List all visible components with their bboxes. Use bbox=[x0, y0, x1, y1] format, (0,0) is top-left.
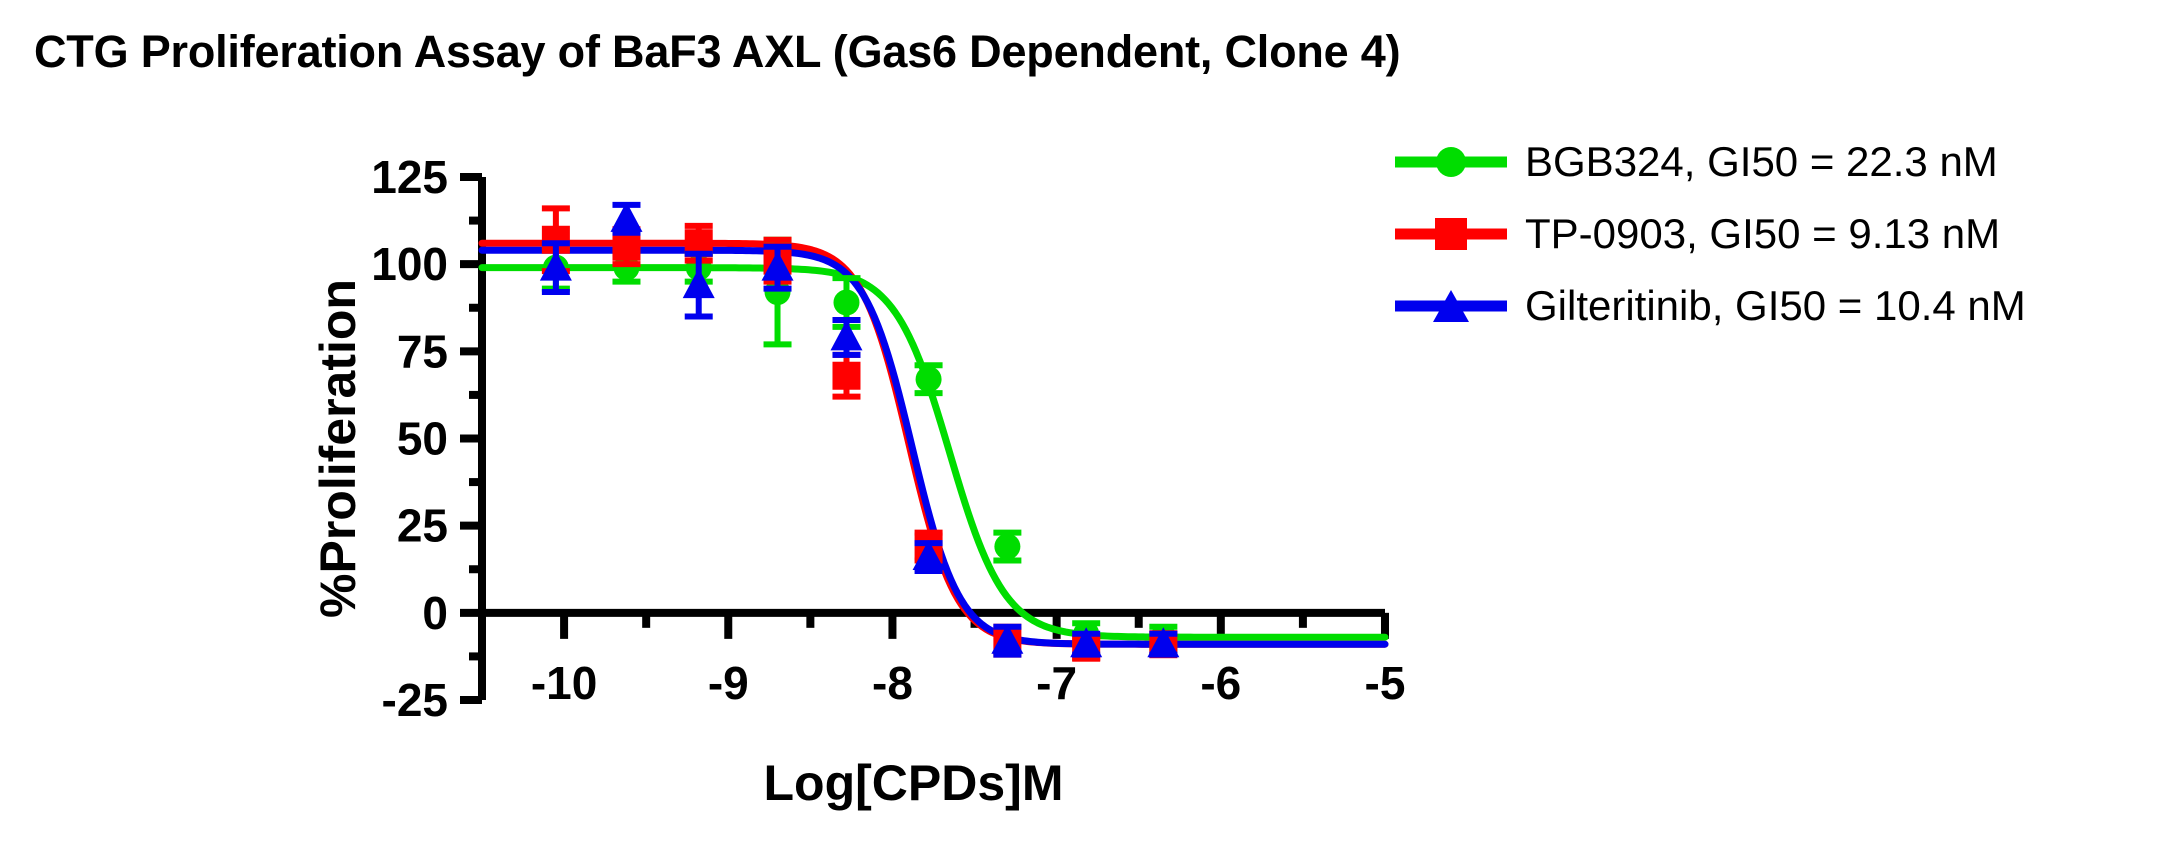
legend-key-gilteritinib bbox=[1395, 286, 1507, 326]
legend-label-tp0903: TP-0903, GI50 = 9.13 nM bbox=[1507, 213, 2000, 255]
data-point-square bbox=[832, 362, 860, 390]
series-curve bbox=[482, 268, 1385, 638]
chart-legend: BGB324, GI50 = 22.3 nM TP-0903, GI50 = 9… bbox=[1395, 126, 2026, 342]
x-tick-label: -7 bbox=[1036, 657, 1077, 709]
y-tick-label: -25 bbox=[382, 674, 448, 726]
series-curve bbox=[482, 250, 1385, 644]
data-point-square bbox=[612, 233, 640, 261]
legend-key-tp0903 bbox=[1395, 214, 1507, 254]
y-tick-label: 25 bbox=[397, 500, 448, 552]
y-axis-title: %Proliferation bbox=[310, 279, 366, 618]
y-tick-label: 100 bbox=[371, 238, 448, 290]
chart-figure: CTG Proliferation Assay of BaF3 AXL (Gas… bbox=[0, 0, 2174, 855]
x-tick-label: -9 bbox=[708, 657, 749, 709]
y-tick-label: 50 bbox=[397, 413, 448, 465]
legend-label-bgb324: BGB324, GI50 = 22.3 nM bbox=[1507, 141, 1998, 183]
legend-label-gilteritinib: Gilteritinib, GI50 = 10.4 nM bbox=[1507, 285, 2026, 327]
data-point-circle bbox=[994, 534, 1020, 560]
data-point-circle bbox=[833, 290, 859, 316]
legend-item-tp0903[interactable]: TP-0903, GI50 = 9.13 nM bbox=[1395, 198, 2026, 270]
x-axis-title: Log[CPDs]M bbox=[764, 755, 1064, 811]
legend-key-bgb324 bbox=[1395, 142, 1507, 182]
y-tick-label: 125 bbox=[371, 151, 448, 203]
legend-item-bgb324[interactable]: BGB324, GI50 = 22.3 nM bbox=[1395, 126, 2026, 198]
data-point-circle bbox=[916, 366, 942, 392]
y-tick-label: 0 bbox=[422, 587, 448, 639]
legend-item-gilteritinib[interactable]: Gilteritinib, GI50 = 10.4 nM bbox=[1395, 270, 2026, 342]
y-tick-label: 75 bbox=[397, 325, 448, 377]
series-curve bbox=[482, 243, 1385, 644]
series-points bbox=[542, 240, 1177, 650]
x-tick-label: -10 bbox=[531, 657, 597, 709]
x-tick-label: -6 bbox=[1200, 657, 1241, 709]
x-tick-label: -8 bbox=[872, 657, 913, 709]
x-tick-label: -5 bbox=[1365, 657, 1406, 709]
